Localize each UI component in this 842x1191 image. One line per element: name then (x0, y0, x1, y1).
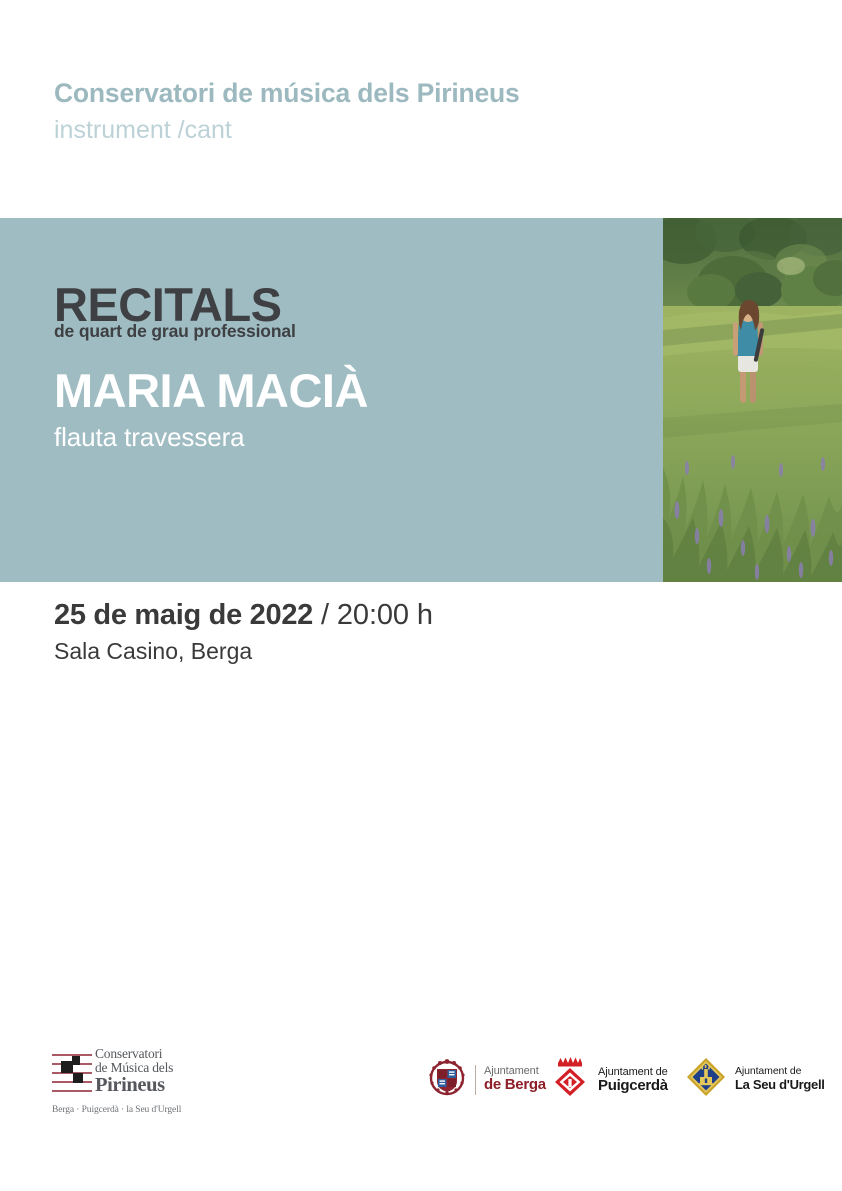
institution-subtitle: instrument /cant (54, 115, 754, 146)
institution-title: Conservatori de música dels Pirineus (54, 78, 754, 108)
sponsor-puigcerda: Ajuntament de Puigcerdà (551, 1057, 668, 1104)
puigcerda-wordmark: Ajuntament de Puigcerdà (598, 1066, 668, 1095)
puigcerda-line2: Puigcerdà (598, 1078, 668, 1095)
event-datetime: 25 de maig de 2022 / 20:00 h (54, 598, 433, 632)
poster-header: Conservatori de música dels Pirineus ins… (54, 78, 754, 147)
series-subtitle: de quart de grau professional (54, 323, 644, 341)
event-venue: Sala Casino, Berga (54, 638, 433, 666)
performer-name: MARIA MACIÀ (54, 367, 644, 414)
event-date: 25 de maig de 2022 (54, 599, 313, 631)
conservatori-line2: de Música dels (95, 1061, 173, 1075)
music-staff-icon (52, 1047, 92, 1101)
la-seu-durgell-wordmark: Ajuntament de La Seu d'Urgell (735, 1066, 825, 1092)
meadow-photo-illustration (663, 218, 842, 582)
sponsor-divider (475, 1065, 476, 1095)
berga-wordmark: Ajuntament de Berga (484, 1065, 546, 1094)
series-title: RECITALS (54, 283, 644, 326)
poster-footer: Conservatori de Música dels Pirineus Ber… (0, 1035, 842, 1145)
puigcerda-crest-icon (551, 1057, 589, 1104)
sponsor-la-seu-durgell: Ajuntament de La Seu d'Urgell (686, 1057, 825, 1102)
conservatori-wordmark: Conservatori de Música dels Pirineus (95, 1047, 173, 1096)
conservatori-tagline: Berga · Puigcerdà · la Seu d'Urgell (52, 1105, 192, 1115)
event-time: 20:00 h (337, 599, 433, 631)
la-seu-durgell-line2: La Seu d'Urgell (735, 1078, 825, 1093)
performer-instrument: flauta travessera (54, 423, 644, 452)
sponsor-berga: Ajuntament de Berga (427, 1057, 546, 1102)
conservatori-logo: Conservatori de Música dels Pirineus Ber… (52, 1047, 192, 1115)
poster: Conservatori de música dels Pirineus ins… (0, 0, 842, 1191)
conservatori-line3: Pirineus (95, 1075, 173, 1096)
event-separator: / (321, 599, 329, 631)
berga-coat-of-arms-icon (427, 1057, 467, 1102)
berga-line2: de Berga (484, 1077, 546, 1094)
la-seu-durgell-crest-icon (686, 1057, 726, 1102)
conservatori-line1: Conservatori (95, 1047, 173, 1061)
event-info: 25 de maig de 2022 / 20:00 h Sala Casino… (54, 598, 433, 666)
performer-photo (663, 218, 842, 582)
band-text-block: RECITALS de quart de grau professional M… (54, 283, 644, 451)
